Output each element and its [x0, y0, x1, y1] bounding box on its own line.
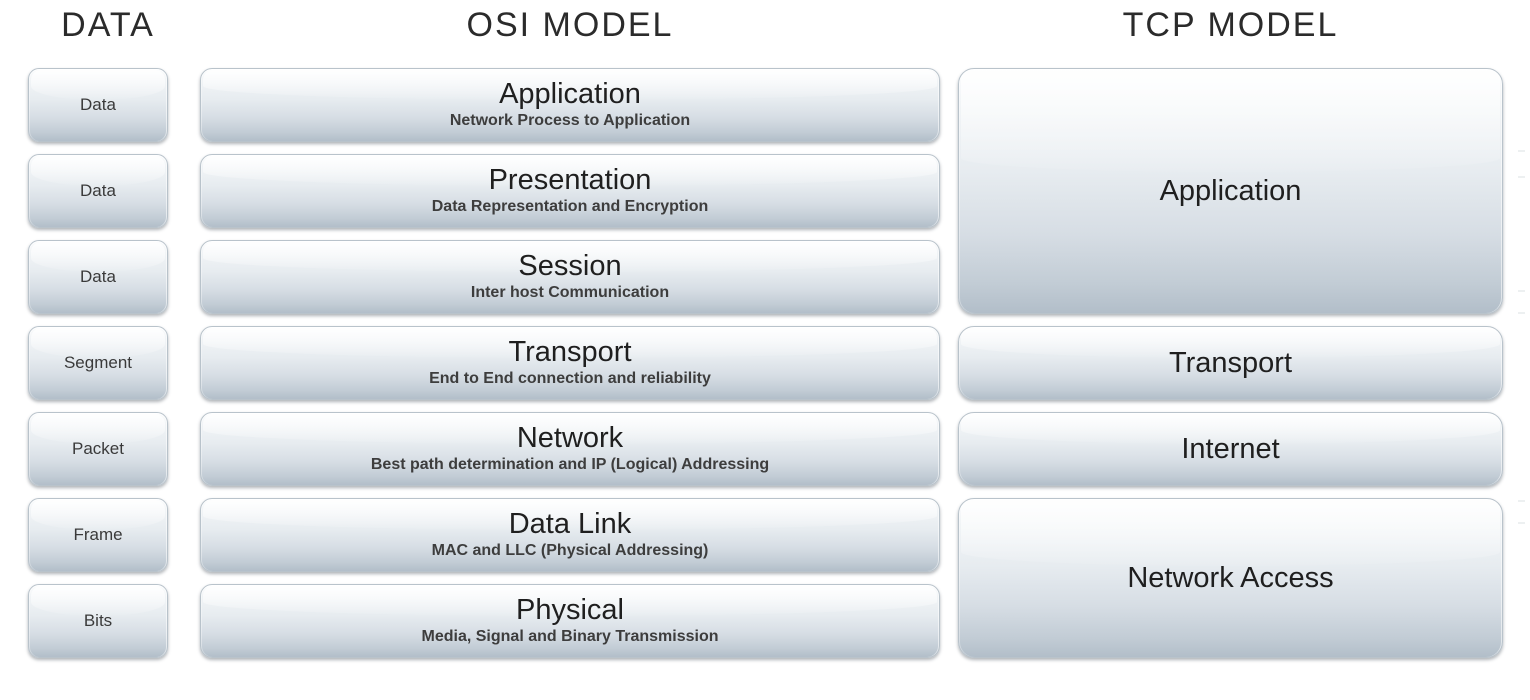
osi-layer-title: Transport	[508, 338, 631, 367]
data-unit-label: Data	[80, 267, 116, 287]
tcp-layer-title: Application	[1160, 175, 1302, 208]
osi-layer-physical: Physical Media, Signal and Binary Transm…	[200, 584, 940, 658]
osi-layer-network: Network Best path determination and IP (…	[200, 412, 940, 486]
osi-layer-presentation: Presentation Data Representation and Enc…	[200, 154, 940, 228]
data-unit-box: Data	[28, 68, 168, 142]
osi-layer-description: End to End connection and reliability	[429, 370, 711, 388]
osi-layer-session: Session Inter host Communication	[200, 240, 940, 314]
scan-artifact	[1518, 176, 1525, 178]
osi-layer-title: Session	[518, 252, 621, 281]
osi-column-header: OSI MODEL	[200, 6, 940, 45]
tcp-layer-title: Network Access	[1127, 562, 1333, 595]
scan-artifact	[1518, 522, 1525, 524]
scan-artifact	[1518, 290, 1525, 292]
data-unit-label: Frame	[73, 525, 122, 545]
scan-artifact	[1518, 312, 1525, 314]
tcp-column-header: TCP MODEL	[958, 6, 1503, 45]
data-unit-label: Bits	[84, 611, 112, 631]
osi-layer-title: Presentation	[489, 166, 652, 195]
data-column-header: DATA	[28, 6, 188, 45]
data-unit-box: Packet	[28, 412, 168, 486]
data-unit-box: Frame	[28, 498, 168, 572]
data-unit-label: Data	[80, 95, 116, 115]
osi-layer-title: Data Link	[509, 510, 632, 539]
column-headers: DATA OSI MODEL TCP MODEL	[0, 0, 1530, 66]
osi-layer-title: Physical	[516, 596, 624, 625]
osi-layer-title: Network	[517, 424, 623, 453]
data-unit-box: Data	[28, 240, 168, 314]
data-unit-label: Segment	[64, 353, 132, 373]
osi-layer-description: Inter host Communication	[471, 284, 669, 302]
osi-layer-description: Network Process to Application	[450, 112, 690, 130]
osi-layer-transport: Transport End to End connection and reli…	[200, 326, 940, 400]
osi-layer-description: Media, Signal and Binary Transmission	[422, 628, 719, 646]
osi-layer-data-link: Data Link MAC and LLC (Physical Addressi…	[200, 498, 940, 572]
scan-artifact	[1518, 150, 1525, 152]
data-unit-label: Data	[80, 181, 116, 201]
osi-layer-description: Data Representation and Encryption	[432, 198, 709, 216]
scan-artifact	[1518, 500, 1525, 502]
osi-layer-description: Best path determination and IP (Logical)…	[371, 456, 769, 474]
data-unit-box: Segment	[28, 326, 168, 400]
tcp-layer-internet: Internet	[958, 412, 1503, 486]
osi-tcp-model-diagram: { "headers": { "data": "DATA", "osi": "O…	[0, 0, 1530, 700]
data-unit-box: Bits	[28, 584, 168, 658]
data-unit-box: Data	[28, 154, 168, 228]
osi-layer-description: MAC and LLC (Physical Addressing)	[432, 542, 709, 560]
data-unit-label: Packet	[72, 439, 124, 459]
tcp-layer-network-access: Network Access	[958, 498, 1503, 658]
tcp-layer-title: Transport	[1169, 347, 1292, 380]
tcp-layer-title: Internet	[1181, 433, 1279, 466]
osi-layer-title: Application	[499, 80, 641, 109]
osi-layer-application: Application Network Process to Applicati…	[200, 68, 940, 142]
tcp-layer-transport: Transport	[958, 326, 1503, 400]
tcp-layer-application: Application	[958, 68, 1503, 314]
